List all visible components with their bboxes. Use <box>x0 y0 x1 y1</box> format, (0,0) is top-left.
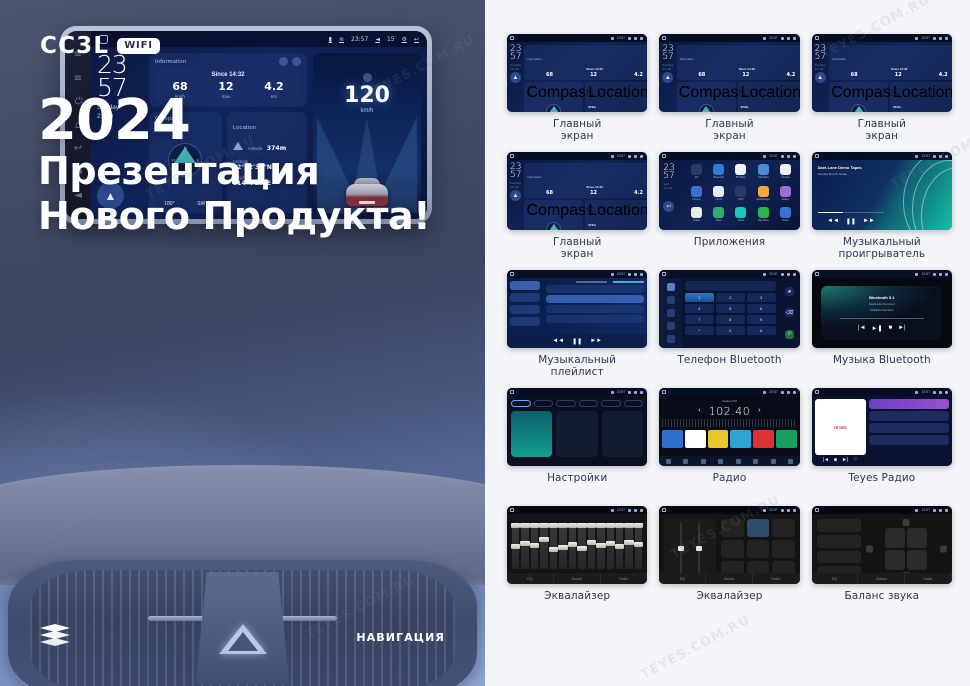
gallery-item[interactable]: 23:57 Station FM ‹ 102.40 › <box>659 388 799 498</box>
hero-year: 2024 <box>38 92 430 149</box>
status-volume: 15 <box>387 36 395 43</box>
thumb-home-icon <box>510 508 514 512</box>
dial-field[interactable] <box>685 281 776 291</box>
gallery-item[interactable]: 23:57 2357Sunday21.10▲ InformationSince … <box>812 34 952 144</box>
thumbnail-home-apps[interactable]: 23:57 2357Sunday21.10▲ InformationSince … <box>659 34 799 112</box>
prev-icon[interactable]: ◄◄ <box>827 218 839 225</box>
thumb-home-icon <box>662 36 666 40</box>
gallery-caption: Настройки <box>547 473 607 498</box>
music-artist: Sunday Brunch Drake <box>818 172 885 176</box>
hero-panel: CC3L WIFI 2024 Презентация Нового Продук… <box>0 0 485 686</box>
thumbnail-equalizer-2[interactable]: 23:57 EQSoundFader <box>659 506 799 584</box>
balance-left-icon[interactable] <box>866 546 873 553</box>
next-icon[interactable]: ►► <box>863 218 875 225</box>
stop-icon[interactable]: ■ <box>834 457 837 463</box>
balance-up-icon[interactable] <box>903 519 910 526</box>
back-icon[interactable]: ↩ <box>414 36 419 43</box>
gallery-caption: Главныйэкран <box>705 119 753 144</box>
gallery-item[interactable]: 23:57 TEYES |◄ ■ ►| ♡ <box>812 388 952 498</box>
bt-track-artist: Childish Gambino <box>870 308 894 312</box>
gallery-item[interactable]: 23:57 ◄◄ ❚❚ ►► <box>507 270 647 380</box>
gallery-caption: Главныйэкран <box>858 119 906 144</box>
navigation-label: НАВИГАЦИЯ <box>356 631 445 644</box>
thumbnail-teyes-radio[interactable]: 23:57 TEYES |◄ ■ ►| ♡ <box>812 388 952 466</box>
hero-line-1: Презентация <box>38 149 430 194</box>
balance-presets[interactable] <box>817 519 861 579</box>
hero-headline: 2024 Презентация Нового Продукта! <box>38 92 430 239</box>
next-icon[interactable]: ►► <box>590 338 602 344</box>
layers-logo <box>40 624 70 648</box>
gallery-item[interactable]: 23:57 Настройки <box>507 388 647 498</box>
gallery-caption: Главныйэкран <box>553 119 601 144</box>
balance-right-icon[interactable] <box>940 546 947 553</box>
pause-icon[interactable]: ❚❚ <box>572 338 582 345</box>
gallery-item[interactable]: 23:57 123456789*0# ★ ⌫ <box>659 270 799 380</box>
gallery-caption: Телефон Bluetooth <box>677 355 781 380</box>
gallery-item[interactable]: 23:57 Bluetooth 5.1 Feels Like Summer Ch… <box>812 270 952 380</box>
gallery-caption: Музыкальныйплейлист <box>538 355 616 380</box>
gear-icon[interactable]: ⚙ <box>402 36 407 43</box>
radio-presets[interactable] <box>662 430 796 448</box>
thumb-home-icon <box>815 272 819 276</box>
thumb-home-icon <box>510 36 514 40</box>
radio-tuning-scale[interactable] <box>662 419 796 427</box>
equalizer-tabs[interactable]: EQSoundFader <box>507 573 647 584</box>
next-icon[interactable]: ►| <box>842 457 848 463</box>
thumbnail-bluetooth-phone[interactable]: 23:57 123456789*0# ★ ⌫ <box>659 270 799 348</box>
gallery-item[interactable]: 23:57 2357Sunday21.10▲ InformationSince … <box>659 34 799 144</box>
information-since: Since 14:32 <box>157 72 299 78</box>
app-grid[interactable]: AVI Bluetooth BT Music Calculator Camera… <box>683 164 795 226</box>
thumbnail-home-drive-2[interactable]: 23:57 2357Sunday21.10▲ InformationSince … <box>507 152 647 230</box>
star-icon[interactable]: ★ <box>785 287 794 296</box>
hazard-button[interactable] <box>196 572 290 684</box>
thumb-home-icon <box>662 272 666 276</box>
hazard-triangle-inner-icon <box>228 632 258 651</box>
prev-icon[interactable]: |◄ <box>823 457 829 463</box>
information-refresh-icon[interactable] <box>279 57 288 66</box>
stat-distance-value: 4.2 <box>264 81 284 92</box>
hero-line-2: Нового Продукта! <box>38 194 430 239</box>
layers-icon <box>40 624 70 648</box>
gallery-item[interactable]: 23:57 2357Sunday21.10▲ InformationSince … <box>507 34 647 144</box>
status-time: 23:57 <box>351 36 368 43</box>
signal-icon: ▮ <box>329 36 332 43</box>
gallery-item[interactable]: 23:57 EQSoundFader Эквалайзер <box>507 506 647 616</box>
settings-cards[interactable] <box>511 411 643 457</box>
wifi-icon: ≋ <box>339 36 344 43</box>
volume-icon: ◄ <box>375 36 380 43</box>
eq-dual-sliders[interactable] <box>664 519 716 579</box>
call-icon[interactable]: ✆ <box>785 330 794 339</box>
gallery-item[interactable]: 23:57 EQSoundFader Эквалайзер <box>659 506 799 616</box>
thumb-home-icon <box>815 154 819 158</box>
balance-pad[interactable] <box>866 519 947 579</box>
information-card-title: Information <box>155 59 186 65</box>
music-progress[interactable] <box>818 212 885 214</box>
drive-mode-icon <box>363 73 372 82</box>
prev-icon[interactable]: ◄◄ <box>552 338 564 344</box>
bt-track-title: Feels Like Summer <box>869 302 895 306</box>
thumbnail-home-media[interactable]: 23:57 2357Sunday21.10▲ InformationSince … <box>507 34 647 112</box>
gallery-caption: Эквалайзер <box>697 591 763 616</box>
thumb-home-icon <box>815 508 819 512</box>
thumbnail-home-drive[interactable]: 23:57 2357Sunday21.10▲ InformationSince … <box>812 34 952 112</box>
product-logo: CC3L WIFI <box>40 33 160 59</box>
product-logo-text: CC3L <box>40 33 109 59</box>
thumbnail-playlist[interactable]: 23:57 ◄◄ ❚❚ ►► <box>507 270 647 348</box>
presentation-page: CC3L WIFI 2024 Презентация Нового Продук… <box>0 0 970 686</box>
playlist-controls[interactable]: ◄◄ ❚❚ ►► <box>507 334 647 348</box>
mute-button-icon[interactable]: ≡ <box>73 73 84 84</box>
backspace-icon[interactable]: ⌫ <box>785 308 794 317</box>
screenshot-gallery-panel: 23:57 2357Sunday21.10▲ InformationSince … <box>485 0 970 686</box>
gallery-caption: Эквалайзер <box>544 591 610 616</box>
thumb-home-icon <box>510 272 514 276</box>
equalizer-tabs[interactable]: EQSoundFader <box>659 573 799 584</box>
gallery-caption: Teyes Радио <box>848 473 915 498</box>
car-dashboard <box>0 250 485 686</box>
gallery-item[interactable]: 23:57 2357Sunday21.10▲ InformationSince … <box>507 152 647 262</box>
gallery-caption: Главныйэкран <box>553 237 601 262</box>
gallery-caption: Музыкальныйпроигрыватель <box>838 237 925 262</box>
thumb-home-icon <box>510 390 514 394</box>
gallery-item[interactable]: 23:57 2357Sun21.10 ↩ AVI Bluetooth BT Mu… <box>659 152 799 262</box>
gallery-caption: Музыка Bluetooth <box>833 355 931 380</box>
thumbnail-apps[interactable]: 23:57 2357Sun21.10 ↩ AVI Bluetooth BT Mu… <box>659 152 799 230</box>
thumbnail-bluetooth-music[interactable]: 23:57 Bluetooth 5.1 Feels Like Summer Ch… <box>812 270 952 348</box>
album-cover: TEYES <box>815 399 866 455</box>
thumb-home-icon <box>662 508 666 512</box>
next-icon[interactable]: ►| <box>898 325 906 332</box>
balance-tabs[interactable]: EQSoundFader <box>812 573 952 584</box>
prev-icon[interactable]: |◄ <box>858 325 866 332</box>
thumb-nav-icon: ▲ <box>510 72 521 83</box>
thumb-home-icon <box>815 36 819 40</box>
gallery-item[interactable]: 23:57 EQSoundFader Баланс <box>812 506 952 616</box>
information-expand-icon[interactable] <box>292 57 301 66</box>
watermark: TEYES.COM.RU <box>639 612 753 682</box>
gallery-caption: Баланс звука <box>844 591 919 616</box>
teyes-station-list[interactable] <box>869 399 949 463</box>
thumbnail-radio[interactable]: 23:57 Station FM ‹ 102.40 › <box>659 388 799 466</box>
thumb-time: 23:57 <box>617 36 626 40</box>
phone-sidebar[interactable] <box>659 278 681 348</box>
stat-max-value: 12 <box>218 81 233 92</box>
gallery-item[interactable]: 23:57 Dark Lane Demo Tapes Sunday Brunch… <box>812 152 952 262</box>
wifi-badge: WIFI <box>117 38 160 54</box>
thumbnail-music-player[interactable]: 23:57 Dark Lane Demo Tapes Sunday Brunch… <box>812 152 952 230</box>
thumb-home-icon <box>662 390 666 394</box>
gallery-caption: Приложения <box>694 237 765 262</box>
play-icon[interactable]: ►❚ <box>872 325 883 332</box>
pause-icon[interactable]: ❚❚ <box>846 218 856 225</box>
gallery-caption: Радио <box>713 473 747 498</box>
equalizer-sliders[interactable] <box>512 523 642 569</box>
music-title: Dark Lane Demo Tapes <box>818 165 885 170</box>
radio-next-icon[interactable]: › <box>758 407 760 414</box>
screenshot-grid: 23:57 2357Sunday21.10▲ InformationSince … <box>507 34 952 616</box>
radio-prev-icon[interactable]: ‹ <box>698 407 700 414</box>
eq-preset-buttons[interactable] <box>721 519 794 579</box>
heart-icon[interactable]: ♡ <box>853 457 857 463</box>
settings-tabs[interactable] <box>511 400 643 407</box>
bt-device-name: Bluetooth 5.1 <box>869 295 894 300</box>
music-waveform <box>890 160 952 230</box>
thumb-home-icon <box>815 390 819 394</box>
stop-icon[interactable]: ■ <box>888 325 892 332</box>
radio-toolbar[interactable] <box>659 456 799 466</box>
thumb-home-icon <box>662 154 666 158</box>
thumb-home-icon <box>510 154 514 158</box>
thumbnail-settings[interactable]: 23:57 <box>507 388 647 466</box>
thumbnail-sound-balance[interactable]: 23:57 EQSoundFader <box>812 506 952 584</box>
dial-pad[interactable]: 123456789*0# <box>685 293 776 335</box>
thumbnail-equalizer[interactable]: 23:57 EQSoundFader <box>507 506 647 584</box>
air-vent-bar <box>8 560 477 686</box>
radio-frequency: 102.40 <box>709 405 751 418</box>
